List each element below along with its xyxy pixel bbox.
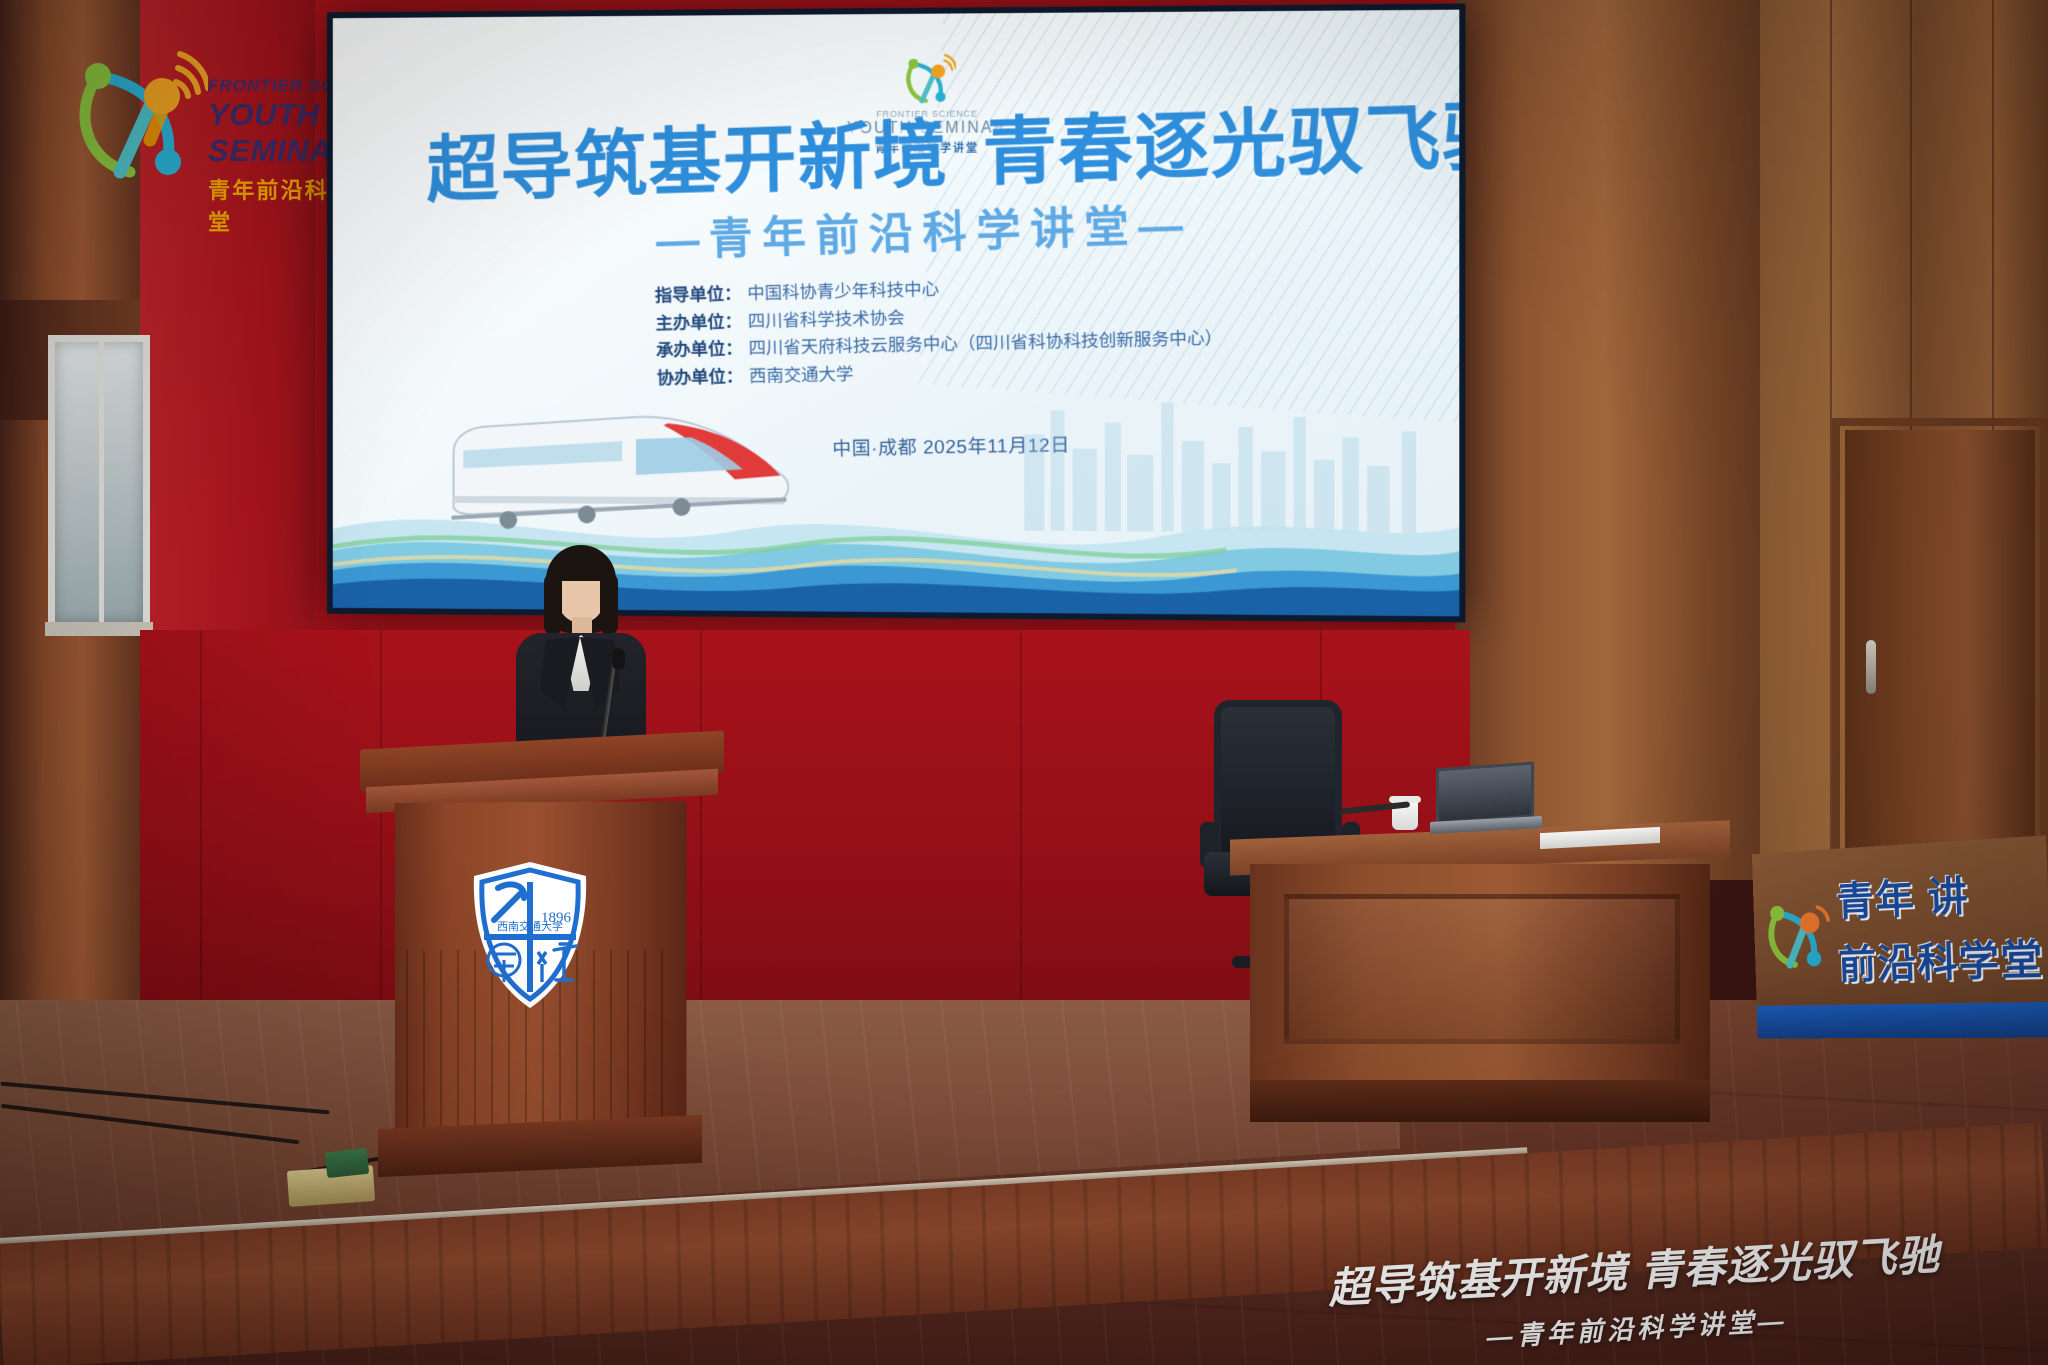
organization-label: 指导单位： — [655, 281, 742, 311]
city-skyline-icon — [1024, 402, 1416, 533]
slide-title-part2: 青春逐光驭飞驰 — [982, 93, 1459, 194]
crest-chinese-text: 西南交通大学 — [497, 919, 563, 933]
left-wall-window — [48, 335, 150, 629]
organization-label: 主办单位： — [655, 308, 742, 337]
slide-content: FRONTIER SCIENCE YOUTH SEMINAR 青年前沿科学讲堂 … — [333, 10, 1459, 617]
stage-sign-line2: 前沿科学堂 — [1837, 926, 2045, 990]
university-crest-icon: 1896 西南交通大学 — [468, 860, 592, 1010]
slide-organizations: 指导单位： 中国科协青少年科技中心 主办单位： 四川省科学技术协会 承办单位： … — [655, 269, 1224, 392]
youth-seminar-logo-icon — [1756, 878, 1835, 987]
laptop-icon[interactable] — [1430, 765, 1540, 835]
stage-sign-text: 青年 讲 前沿科学堂 — [1835, 859, 2045, 990]
microphone-icon — [612, 648, 625, 670]
stage-sign-board: 青年 讲 前沿科学堂 — [1752, 835, 2048, 1021]
organization-value: 中国科协青少年科技中心 — [747, 276, 939, 308]
stage-sign-line1: 青年 讲 — [1835, 859, 2042, 928]
high-speed-train-icon — [440, 399, 794, 549]
door-handle[interactable] — [1866, 640, 1876, 694]
presenter-table — [1250, 830, 1710, 1130]
right-wall-wood-panel — [1455, 0, 1785, 880]
youth-seminar-logo-icon — [58, 40, 208, 190]
slide-title-part1: 超导筑基开新境 — [426, 112, 949, 211]
stage-photo-scene: FRONTIER SCIENCE YOUTH SEMINAR 青年前沿科学讲堂 — [0, 0, 2048, 1365]
organization-value: 四川省科学技术协会 — [748, 304, 905, 335]
floor-equipment-box — [325, 1148, 369, 1178]
led-presentation-screen: FRONTIER SCIENCE YOUTH SEMINAR 青年前沿科学讲堂 … — [327, 4, 1465, 623]
podium-lectern: 1896 西南交通大学 — [372, 740, 712, 1170]
organization-label: 承办单位： — [656, 336, 743, 365]
